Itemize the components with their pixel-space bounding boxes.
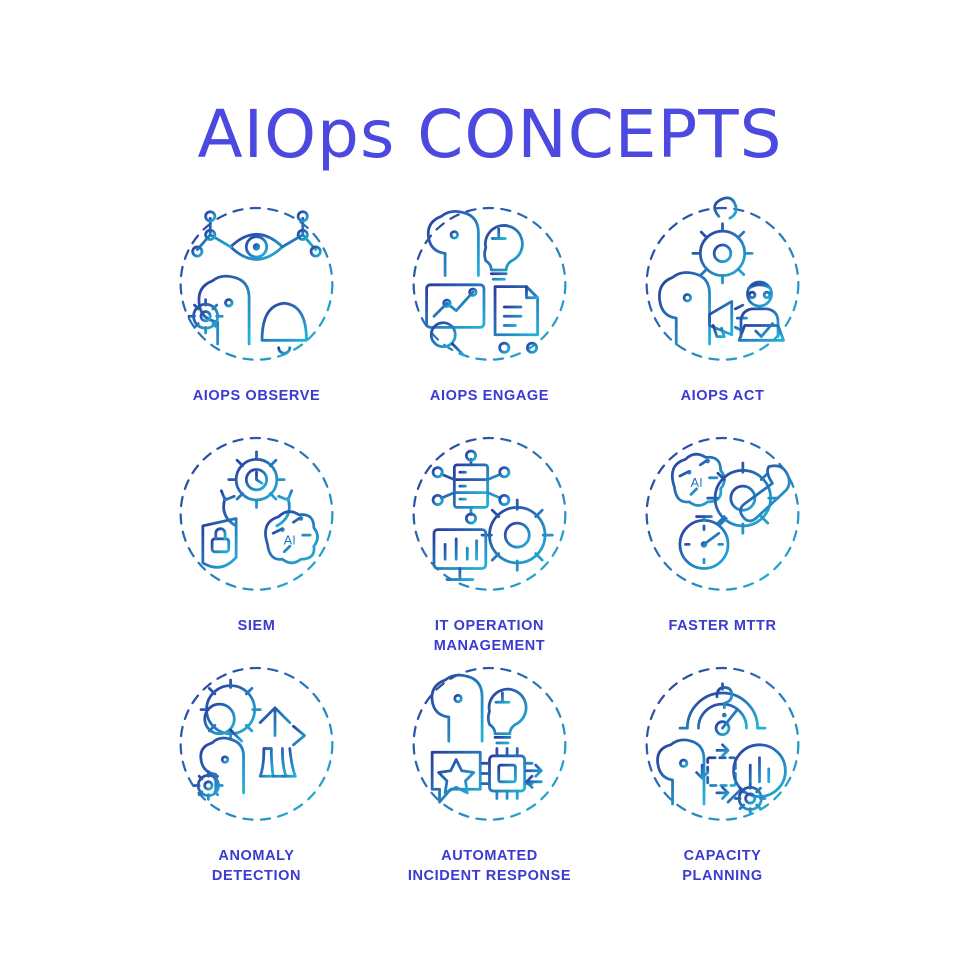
it-operation-management-illustration bbox=[397, 426, 582, 611]
svg-text:AI: AI bbox=[284, 532, 296, 547]
server-network-icon bbox=[433, 451, 509, 523]
ai-head-lightbulb-icon bbox=[428, 211, 522, 279]
svg-text:AI: AI bbox=[690, 475, 702, 490]
poster-canvas: AIOps CONCEPTS bbox=[0, 0, 980, 980]
icon-card-capacity-planning[interactable]: CAPACITY PLANNING bbox=[606, 656, 839, 886]
star-speech-bubble-icon bbox=[432, 752, 480, 802]
gear-icon bbox=[482, 500, 552, 570]
icon-card-aiops-act[interactable]: AIOPS ACT bbox=[606, 196, 839, 426]
aiops-act-illustration bbox=[630, 196, 815, 381]
icon-label-aiops-observe: AIOPS OBSERVE bbox=[193, 387, 321, 407]
aiops-engage-illustration bbox=[397, 196, 582, 381]
cpu-chip-arrows-icon bbox=[482, 749, 541, 799]
icon-label-it-operation-management: IT OPERATION MANAGEMENT bbox=[434, 617, 546, 656]
ai-head-lightbulb-icon bbox=[432, 675, 526, 743]
page-title: AIOps CONCEPTS bbox=[0, 96, 980, 173]
faster-mttr-illustration: AI bbox=[630, 426, 815, 611]
icon-label-capacity-planning: CAPACITY PLANNING bbox=[682, 847, 763, 886]
icon-label-faster-mttr: FASTER MTTR bbox=[668, 617, 776, 637]
icon-label-aiops-act: AIOPS ACT bbox=[681, 387, 765, 407]
icon-label-aiops-engage: AIOPS ENGAGE bbox=[430, 387, 549, 407]
icon-card-aiops-engage[interactable]: AIOPS ENGAGE bbox=[373, 196, 606, 426]
icon-card-aiops-observe[interactable]: AIOPS OBSERVE bbox=[140, 196, 373, 426]
gear-magnifier-icon bbox=[201, 680, 260, 741]
icon-label-automated-incident-response: AUTOMATED INCIDENT RESPONSE bbox=[408, 847, 571, 886]
ai-brain-icon: AI bbox=[265, 512, 317, 563]
icon-label-siem: SIEM bbox=[238, 617, 276, 637]
icon-card-automated-incident-response[interactable]: AUTOMATED INCIDENT RESPONSE bbox=[373, 656, 606, 886]
ai-head-gear-icon bbox=[195, 738, 244, 799]
person-laptop-check-icon bbox=[739, 282, 783, 340]
automated-incident-response-illustration bbox=[397, 656, 582, 841]
ai-head-megaphone-icon bbox=[659, 272, 746, 344]
icon-card-faster-mttr[interactable]: AI bbox=[606, 426, 839, 656]
capacity-planning-illustration bbox=[630, 656, 815, 841]
icon-grid: AIOPS OBSERVE bbox=[140, 196, 840, 886]
anomaly-detection-illustration bbox=[164, 656, 349, 841]
stopwatch-icon bbox=[680, 517, 728, 569]
icon-card-anomaly-detection[interactable]: ANOMALY DETECTION bbox=[140, 656, 373, 886]
aiops-observe-illustration bbox=[164, 196, 349, 381]
document-cart-icon bbox=[493, 287, 541, 353]
shield-lock-icon bbox=[203, 519, 236, 568]
icon-card-it-operation-management[interactable]: IT OPERATION MANAGEMENT bbox=[373, 426, 606, 656]
icon-card-siem[interactable]: AI SIEM bbox=[140, 426, 373, 656]
eye-icon bbox=[231, 234, 283, 259]
monitor-bar-chart-icon bbox=[434, 530, 486, 580]
bell-icon bbox=[257, 296, 313, 353]
siem-illustration: AI bbox=[164, 426, 349, 611]
icon-label-anomaly-detection: ANOMALY DETECTION bbox=[212, 847, 301, 886]
arrow-split-icon bbox=[260, 708, 304, 776]
gauge-question-icon bbox=[680, 684, 765, 735]
dashboard-chart-icon bbox=[427, 285, 484, 328]
